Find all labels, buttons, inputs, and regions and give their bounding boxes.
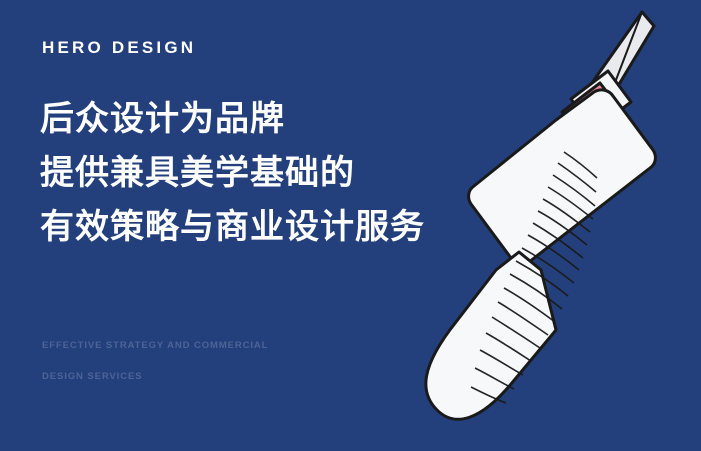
subtitle-line-2: DESIGN SERVICES — [42, 361, 372, 392]
subtitle-block: EFFECTIVE STRATEGY AND COMMERCIAL DESIGN… — [42, 330, 372, 392]
promo-banner: HERO DESIGN 后众设计为品牌 提供兼具美学基础的 有效策略与商业设计服… — [0, 0, 701, 451]
handle-upper-shape — [469, 90, 656, 264]
brand-logo-text: HERO DESIGN — [42, 38, 196, 58]
scalpel-blade-illustration — [401, 0, 701, 451]
subtitle-line-1: EFFECTIVE STRATEGY AND COMMERCIAL — [42, 330, 372, 361]
